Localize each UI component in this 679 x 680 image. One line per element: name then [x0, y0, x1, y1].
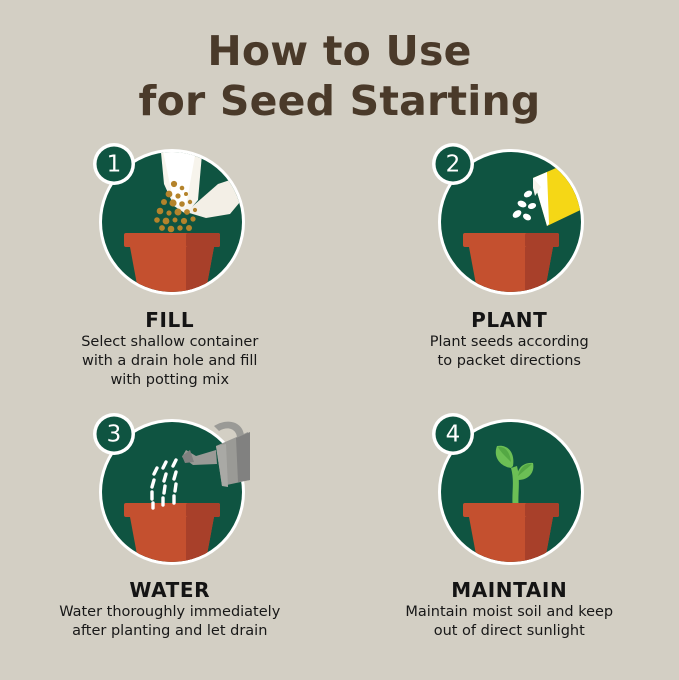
- step-2-caption: PLANT Plant seeds according to packet di…: [430, 308, 589, 371]
- step-3: 3 WATER Water thoroughly immediately aft…: [0, 410, 340, 680]
- title-line-2-bold: Seed Starting: [220, 77, 541, 125]
- step-number-text: 3: [106, 422, 121, 448]
- step-3-body: Water thoroughly immediately after plant…: [59, 603, 280, 641]
- step-number-text: 4: [446, 422, 461, 448]
- step-2-title: PLANT: [430, 308, 589, 332]
- plant-pot: [124, 233, 220, 300]
- plant-pot: [463, 233, 559, 300]
- step-1-illustration: 1: [90, 140, 250, 300]
- step-number-badge: 4: [432, 413, 474, 455]
- step-3-title: WATER: [59, 578, 280, 602]
- step-3-caption: WATER Water thoroughly immediately after…: [59, 578, 280, 641]
- step-3-illustration: 3: [90, 410, 250, 570]
- step-2-body: Plant seeds according to packet directio…: [430, 333, 589, 371]
- step-1-body: Select shallow container with a drain ho…: [81, 333, 258, 390]
- pouring-soil-bag-icon: 1: [90, 140, 250, 300]
- step-1-title: FILL: [81, 308, 258, 332]
- plant-pot: [124, 503, 220, 570]
- title-line-2: for Seed Starting: [0, 76, 679, 126]
- step-number-badge: 3: [93, 413, 135, 455]
- step-2: 2 PLANT Plant seeds according to packet …: [340, 140, 679, 410]
- step-number-badge: 2: [432, 143, 474, 185]
- title-line-1: How to Use: [0, 26, 679, 76]
- step-1-caption: FILL Select shallow container with a dra…: [81, 308, 258, 390]
- step-2-illustration: 2: [429, 140, 589, 300]
- steps-grid: 1 FILL Select shallow container with a d…: [0, 140, 679, 680]
- step-4-body: Maintain moist soil and keep out of dire…: [405, 603, 613, 641]
- step-4-title: MAINTAIN: [405, 578, 613, 602]
- page-title: How to Use for Seed Starting: [0, 26, 679, 126]
- step-number-text: 2: [446, 152, 461, 178]
- infographic-page: How to Use for Seed Starting: [0, 0, 679, 679]
- step-4-caption: MAINTAIN Maintain moist soil and keep ou…: [405, 578, 613, 641]
- watering-can-icon: 3: [90, 410, 250, 570]
- title-line-2-regular: for: [139, 77, 220, 125]
- step-1: 1 FILL Select shallow container with a d…: [0, 140, 340, 410]
- seed-packet-icon: 2: [429, 140, 589, 300]
- step-4: 4 MAINTAIN Maintain moist soil and keep …: [340, 410, 679, 680]
- step-number-text: 1: [106, 152, 121, 178]
- plant-pot: [463, 503, 559, 570]
- seedling-sprout-icon: 4: [429, 410, 589, 570]
- step-number-badge: 1: [93, 143, 135, 185]
- step-4-illustration: 4: [429, 410, 589, 570]
